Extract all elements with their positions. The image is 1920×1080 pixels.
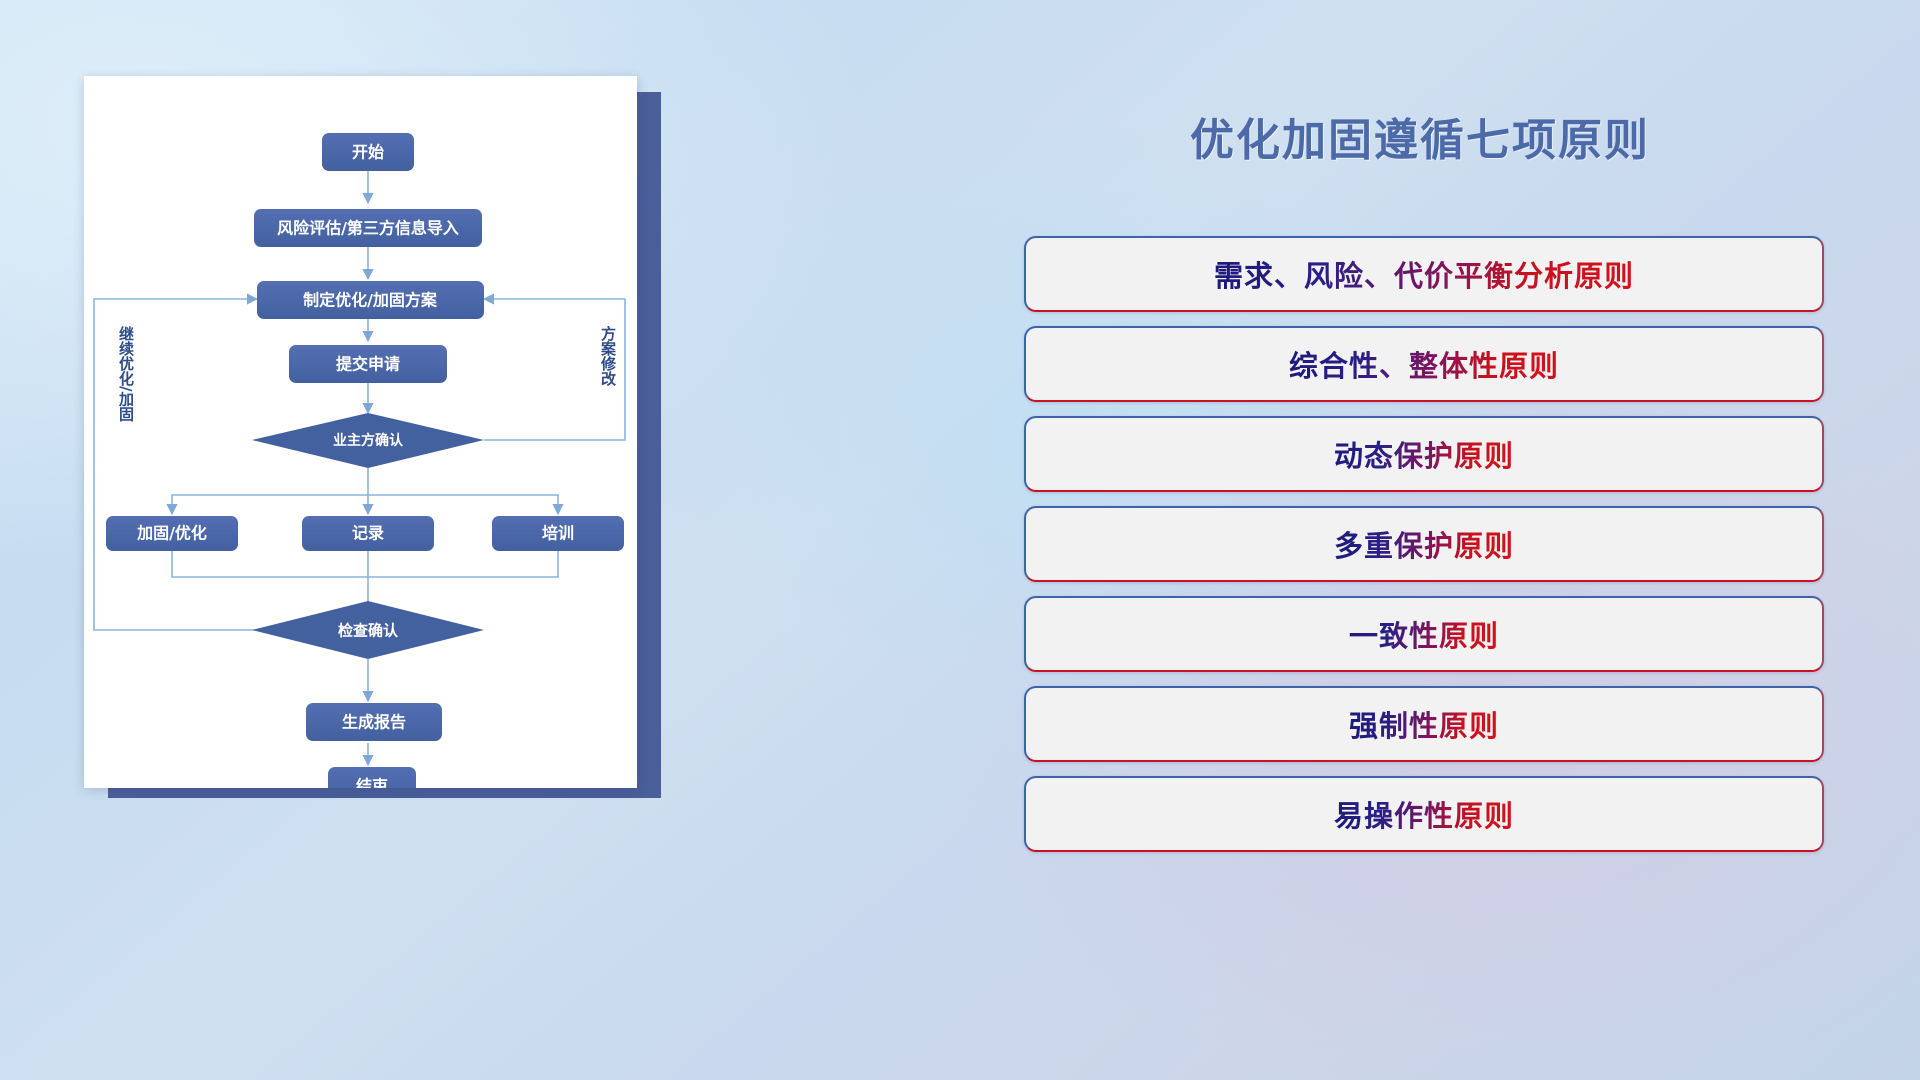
principle-card[interactable]: 易操作性原则 [1024, 776, 1824, 852]
principle-card[interactable]: 动态保护原则 [1024, 416, 1824, 492]
page-title: 优化加固遵循七项原则 [1000, 104, 1840, 168]
principle-card[interactable]: 综合性、整体性原则 [1024, 326, 1824, 402]
node-check-confirm[interactable]: 检查确认 [252, 601, 484, 659]
node-report-label: 生成报告 [342, 713, 406, 732]
node-end-label: 结束 [355, 777, 389, 789]
node-plan-label: 制定优化/加固方案 [303, 291, 438, 310]
node-plan[interactable]: 制定优化/加固方案 [257, 281, 484, 319]
node-submit-label: 提交申请 [336, 355, 400, 374]
principle-label: 一致性原则 [1349, 613, 1499, 655]
principle-card[interactable]: 一致性原则 [1024, 596, 1824, 672]
principle-label: 动态保护原则 [1334, 433, 1514, 475]
node-submit[interactable]: 提交申请 [289, 345, 447, 383]
principle-card[interactable]: 强制性原则 [1024, 686, 1824, 762]
node-report[interactable]: 生成报告 [306, 703, 442, 741]
node-record[interactable]: 记录 [302, 516, 434, 551]
node-owner-confirm[interactable]: 业主方确认 [252, 413, 484, 468]
principle-card[interactable]: 多重保护原则 [1024, 506, 1824, 582]
node-reinforce[interactable]: 加固/优化 [106, 516, 238, 551]
node-risk-assessment-label: 风险评估/第三方信息导入 [277, 219, 459, 238]
principle-label: 强制性原则 [1349, 703, 1499, 745]
principle-label: 多重保护原则 [1334, 523, 1514, 565]
node-training[interactable]: 培训 [492, 516, 624, 551]
node-record-label: 记录 [352, 524, 384, 543]
principle-card[interactable]: 需求、风险、代价平衡分析原则 [1024, 236, 1824, 312]
node-owner-confirm-label: 业主方确认 [333, 432, 404, 449]
node-risk-assessment[interactable]: 风险评估/第三方信息导入 [254, 209, 482, 247]
right-panel: 优化加固遵循七项原则 需求、风险、代价平衡分析原则 综合性、整体性原则 动态保护… [1000, 0, 1920, 1080]
node-training-label: 培训 [542, 524, 574, 543]
principle-label: 需求、风险、代价平衡分析原则 [1214, 253, 1634, 295]
edge-label-right-loop: 方案修改 [599, 325, 617, 387]
node-reinforce-label: 加固/优化 [136, 524, 207, 543]
flowchart-connectors [94, 171, 625, 765]
flowchart-svg: 开始 风险评估/第三方信息导入 制定优化/加固方案 提交申请 业主方确认 加固/… [84, 76, 637, 788]
node-start-label: 开始 [352, 143, 384, 162]
edge-label-left-loop: 继续优化/加固 [117, 325, 135, 422]
node-check-confirm-label: 检查确认 [338, 622, 399, 640]
node-end[interactable]: 结束 [328, 767, 416, 788]
principle-label: 综合性、整体性原则 [1289, 343, 1559, 385]
flowchart-card: 开始 风险评估/第三方信息导入 制定优化/加固方案 提交申请 业主方确认 加固/… [84, 76, 637, 788]
node-start[interactable]: 开始 [322, 133, 414, 171]
principle-label: 易操作性原则 [1334, 793, 1514, 835]
principle-list: 需求、风险、代价平衡分析原则 综合性、整体性原则 动态保护原则 多重保护原则 一… [1024, 236, 1824, 866]
